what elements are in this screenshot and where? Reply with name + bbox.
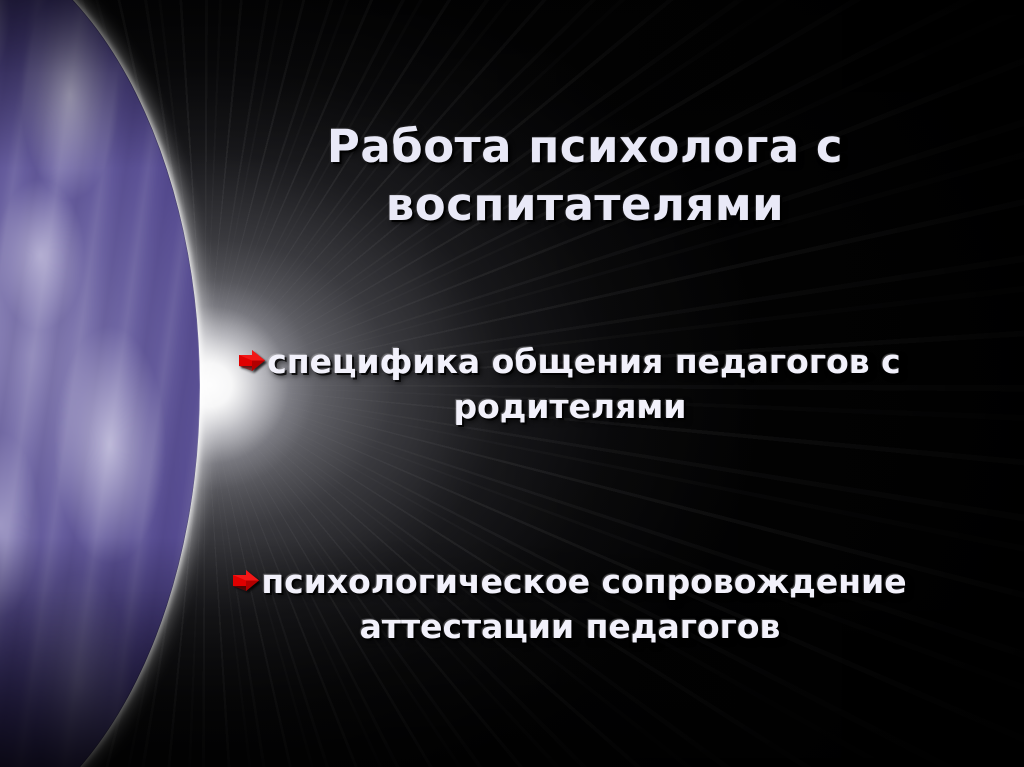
red-right-arrow-icon bbox=[233, 570, 259, 591]
bullet-item-2: психологическое сопровождение аттестации… bbox=[170, 559, 970, 649]
bullet-item-1: специфика общения педагогов с родителями bbox=[170, 339, 970, 429]
presentation-slide: Работа психолога с воспитателями специфи… bbox=[0, 0, 1024, 767]
bullet-text-1: специфика общения педагогов с родителями bbox=[267, 342, 900, 426]
bullet-text-2: психологическое сопровождение аттестации… bbox=[261, 562, 906, 646]
red-right-arrow-icon bbox=[239, 350, 265, 371]
slide-title: Работа психолога с воспитателями bbox=[205, 118, 965, 234]
bullet-list: специфика общения педагогов с родителями… bbox=[170, 306, 970, 682]
